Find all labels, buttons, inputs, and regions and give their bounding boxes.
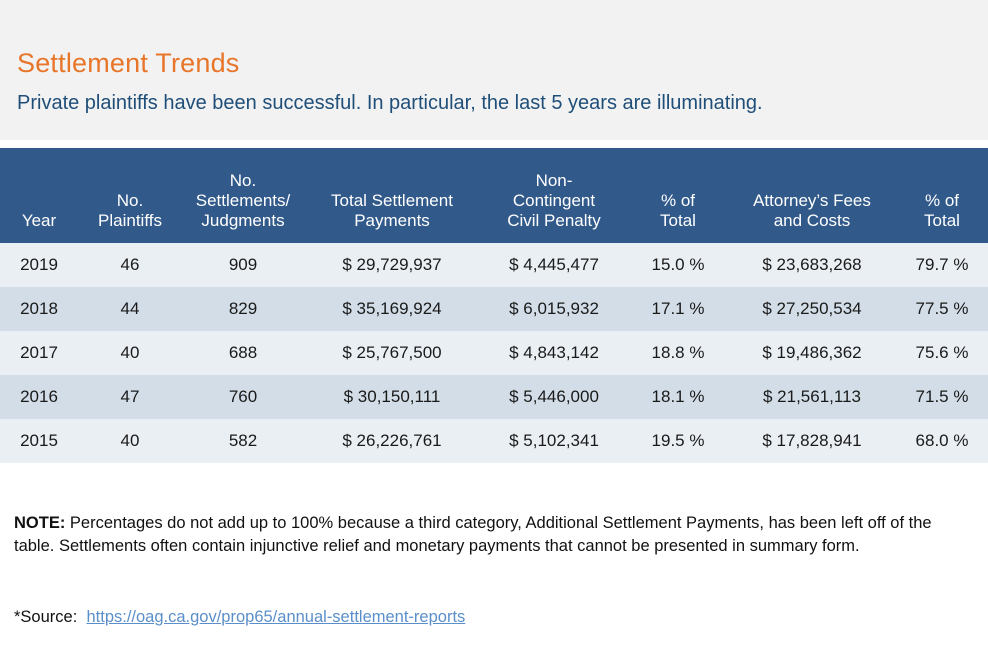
cell-no-plaintiffs: 40	[78, 419, 182, 463]
cell-attorneys-fees-and-costs: $ 27,250,534	[728, 287, 896, 331]
cell-total-settlement-payments: $ 29,729,937	[304, 243, 480, 287]
header-band: Settlement Trends Private plaintiffs hav…	[0, 0, 988, 140]
cell-percent-of-total-penalty: 18.8 %	[628, 331, 728, 375]
cell-percent-of-total-penalty: 17.1 %	[628, 287, 728, 331]
cell-non-contingent-civil-penalty: $ 5,446,000	[480, 375, 628, 419]
cell-no-settlements-judgments: 688	[182, 331, 304, 375]
header-line: No.	[182, 171, 304, 191]
header-line: Year	[0, 211, 78, 231]
cell-year: 2015	[0, 419, 78, 463]
cell-year: 2017	[0, 331, 78, 375]
table-header-row: Year No. Plaintiffs No. Settlements/ Jud…	[0, 148, 988, 243]
cell-total-settlement-payments: $ 35,169,924	[304, 287, 480, 331]
cell-attorneys-fees-and-costs: $ 19,486,362	[728, 331, 896, 375]
column-header-percent-of-total-penalty: % of Total	[628, 148, 728, 243]
cell-no-settlements-judgments: 760	[182, 375, 304, 419]
cell-percent-of-total-fees: 77.5 %	[896, 287, 988, 331]
cell-non-contingent-civil-penalty: $ 5,102,341	[480, 419, 628, 463]
page-title: Settlement Trends	[17, 48, 240, 79]
header-line: % of	[628, 191, 728, 211]
slide: Settlement Trends Private plaintiffs hav…	[0, 0, 988, 670]
cell-no-settlements-judgments: 582	[182, 419, 304, 463]
note-label: NOTE:	[14, 514, 65, 532]
cell-year: 2018	[0, 287, 78, 331]
header-line: Total	[628, 211, 728, 231]
cell-percent-of-total-fees: 79.7 %	[896, 243, 988, 287]
cell-attorneys-fees-and-costs: $ 23,683,268	[728, 243, 896, 287]
cell-non-contingent-civil-penalty: $ 4,445,477	[480, 243, 628, 287]
cell-percent-of-total-fees: 68.0 %	[896, 419, 988, 463]
cell-non-contingent-civil-penalty: $ 4,843,142	[480, 331, 628, 375]
cell-no-settlements-judgments: 829	[182, 287, 304, 331]
settlement-trends-table: Year No. Plaintiffs No. Settlements/ Jud…	[0, 148, 988, 463]
cell-percent-of-total-penalty: 15.0 %	[628, 243, 728, 287]
column-header-non-contingent-civil-penalty: Non- Contingent Civil Penalty	[480, 148, 628, 243]
source-line: *Source: https://oag.ca.gov/prop65/annua…	[14, 608, 465, 627]
column-header-no-plaintiffs: No. Plaintiffs	[78, 148, 182, 243]
column-header-year: Year	[0, 148, 78, 243]
note-text: Percentages do not add up to 100% becaus…	[14, 514, 932, 555]
cell-no-plaintiffs: 46	[78, 243, 182, 287]
cell-total-settlement-payments: $ 26,226,761	[304, 419, 480, 463]
cell-percent-of-total-penalty: 18.1 %	[628, 375, 728, 419]
cell-non-contingent-civil-penalty: $ 6,015,932	[480, 287, 628, 331]
header-line: Attorney’s Fees	[728, 191, 896, 211]
table-row: 2019 46 909 $ 29,729,937 $ 4,445,477 15.…	[0, 243, 988, 287]
cell-no-settlements-judgments: 909	[182, 243, 304, 287]
table-row: 2016 47 760 $ 30,150,111 $ 5,446,000 18.…	[0, 375, 988, 419]
source-link[interactable]: https://oag.ca.gov/prop65/annual-settlem…	[86, 608, 465, 626]
column-header-attorneys-fees-and-costs: Attorney’s Fees and Costs	[728, 148, 896, 243]
cell-attorneys-fees-and-costs: $ 17,828,941	[728, 419, 896, 463]
page-subtitle: Private plaintiffs have been successful.…	[17, 92, 763, 115]
cell-no-plaintiffs: 47	[78, 375, 182, 419]
table-row: 2018 44 829 $ 35,169,924 $ 6,015,932 17.…	[0, 287, 988, 331]
cell-percent-of-total-fees: 75.6 %	[896, 331, 988, 375]
cell-percent-of-total-fees: 71.5 %	[896, 375, 988, 419]
cell-year: 2016	[0, 375, 78, 419]
cell-total-settlement-payments: $ 30,150,111	[304, 375, 480, 419]
header-line: Settlements/	[182, 191, 304, 211]
column-header-no-settlements-judgments: No. Settlements/ Judgments	[182, 148, 304, 243]
header-line: and Costs	[728, 211, 896, 231]
cell-percent-of-total-penalty: 19.5 %	[628, 419, 728, 463]
header-line: Payments	[304, 211, 480, 231]
header-line: Total	[896, 211, 988, 231]
table-note: NOTE: Percentages do not add up to 100% …	[14, 512, 966, 558]
header-line: Total Settlement	[304, 191, 480, 211]
header-line: Judgments	[182, 211, 304, 231]
header-line: Plaintiffs	[78, 211, 182, 231]
column-header-total-settlement-payments: Total Settlement Payments	[304, 148, 480, 243]
cell-year: 2019	[0, 243, 78, 287]
table-row: 2015 40 582 $ 26,226,761 $ 5,102,341 19.…	[0, 419, 988, 463]
cell-attorneys-fees-and-costs: $ 21,561,113	[728, 375, 896, 419]
header-line: No.	[78, 191, 182, 211]
table-row: 2017 40 688 $ 25,767,500 $ 4,843,142 18.…	[0, 331, 988, 375]
header-line: % of	[896, 191, 988, 211]
header-line: Civil Penalty	[480, 211, 628, 231]
header-line: Non-	[480, 171, 628, 191]
source-label: *Source:	[14, 608, 77, 626]
cell-no-plaintiffs: 44	[78, 287, 182, 331]
column-header-percent-of-total-fees: % of Total	[896, 148, 988, 243]
cell-no-plaintiffs: 40	[78, 331, 182, 375]
cell-total-settlement-payments: $ 25,767,500	[304, 331, 480, 375]
header-line: Contingent	[480, 191, 628, 211]
